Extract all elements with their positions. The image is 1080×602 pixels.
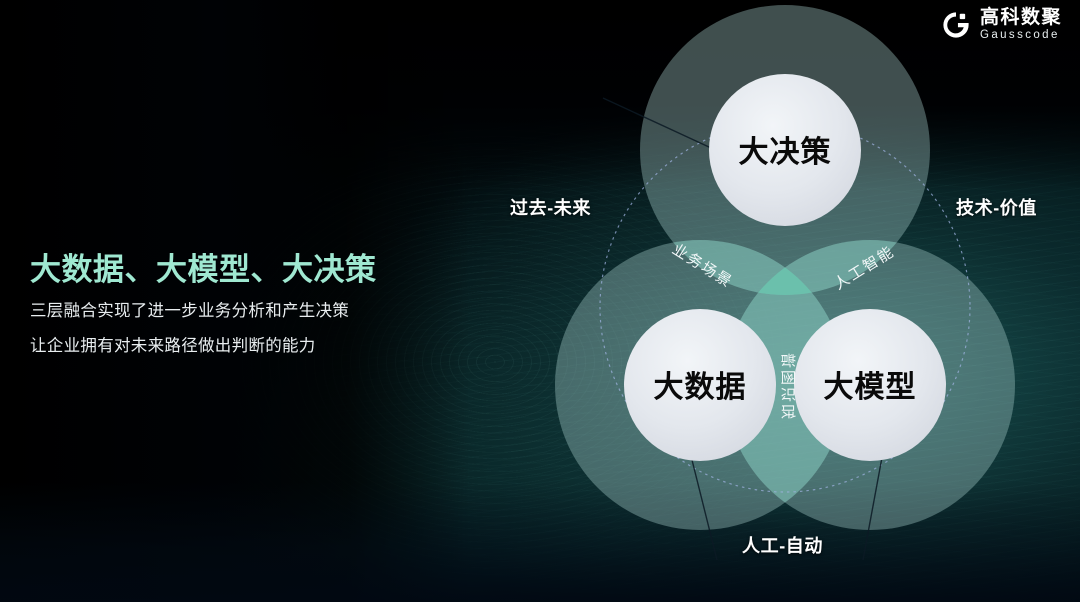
venn-svg: 大决策 大数据 大模型 业务场景 人工智能 知识图谱 [485,0,1080,602]
subtitle-line-2: 让企业拥有对未来路径做出判断的能力 [30,337,460,355]
axis-label-past-future: 过去-未来 [510,194,591,220]
axis-label-tech-value: 技术-价值 [956,194,1037,220]
gausscode-circle-mark-icon [941,10,971,40]
core-label-bigmodel: 大模型 [824,371,917,404]
axis-label-manual-auto: 人工-自动 [742,532,823,558]
subtitle-line-1: 三层融合实现了进一步业务分析和产生决策 [30,302,460,320]
core-label-decision: 大决策 [739,135,832,169]
brand-name-cn: 高科数聚 [980,8,1062,27]
headline-block: 大数据、大模型、大决策 三层融合实现了进一步业务分析和产生决策 让企业拥有对未来… [30,252,460,372]
slide-canvas: 高科数聚 Gausscode 大数据、大模型、大决策 三层融合实现了进一步业务分… [0,0,1080,602]
venn-diagram: 大决策 大数据 大模型 业务场景 人工智能 知识图谱 [485,0,1080,602]
page-title: 大数据、大模型、大决策 [30,252,460,288]
brand-name-en: Gausscode [980,30,1062,42]
core-label-bigdata: 大数据 [654,371,747,404]
intersection-label-knowledge-graph: 知识图谱 [779,351,796,419]
brand-logo: 高科数聚 Gausscode [941,8,1062,42]
